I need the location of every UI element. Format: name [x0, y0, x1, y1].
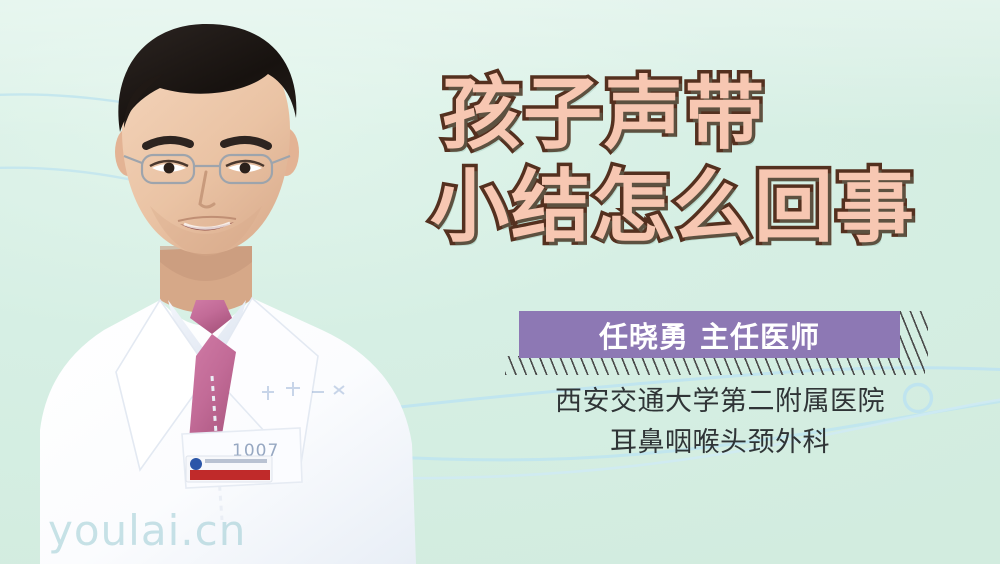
department-name: 耳鼻咽喉头颈外科	[500, 422, 940, 463]
speaker-name-banner: 任晓勇 主任医师	[519, 311, 900, 358]
video-thumbnail-poster: 1007	[0, 0, 1000, 564]
doctor-portrait-photo: 1007	[0, 0, 470, 564]
affiliation-block: 西安交通大学第二附属医院 耳鼻咽喉头颈外科	[500, 381, 940, 463]
title-block: 孩子声带 小结怎么回事	[430, 68, 990, 254]
hatch-pattern-under-banner	[505, 356, 925, 375]
title-line-2: 小结怎么回事	[430, 161, 990, 254]
hatch-pattern-right-of-banner	[898, 311, 928, 359]
site-watermark: youlai.cn	[48, 506, 246, 555]
hospital-name: 西安交通大学第二附属医院	[500, 381, 940, 422]
speaker-name-text: 任晓勇 主任医师	[599, 314, 820, 356]
title-line-1: 孩子声带	[430, 68, 990, 161]
